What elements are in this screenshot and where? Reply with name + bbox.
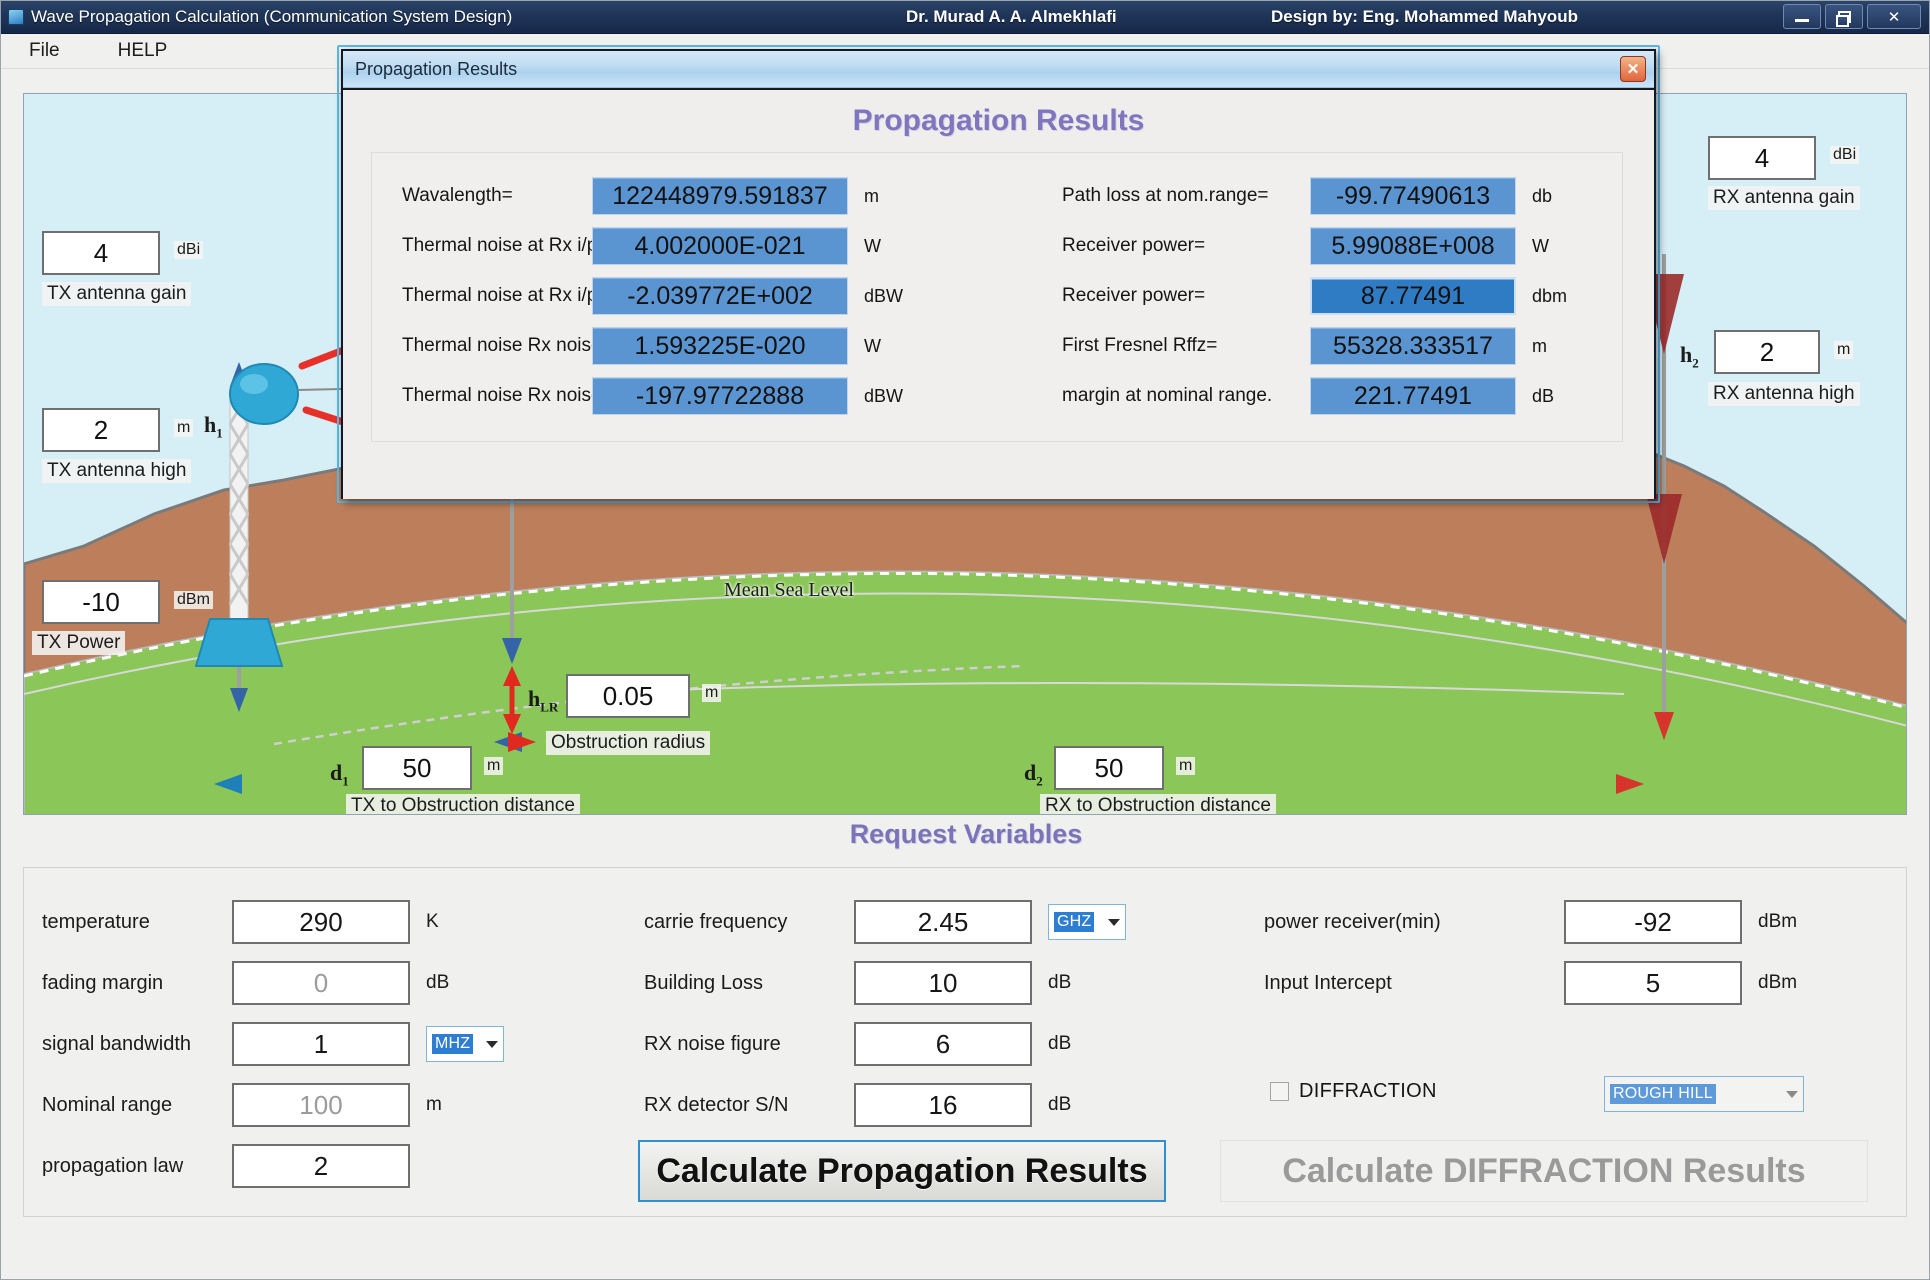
obstruction-radius-input[interactable]: 0.05 [566, 674, 690, 718]
temperature-label: temperature [42, 911, 232, 934]
tx-antenna-gain-input[interactable]: 4 [42, 231, 160, 275]
dialog-heading: Propagation Results [343, 104, 1654, 138]
window-designer-label: Design by: Eng. Mohammed Mahyoub [1271, 7, 1578, 27]
fading-margin-label: fading margin [42, 972, 232, 995]
result-row-margin: margin at nominal range. 221.77491 dB [1062, 377, 1554, 415]
input-intercept-unit: dBm [1758, 972, 1797, 994]
result-row-path-loss: Path loss at nom.range= -99.77490613 db [1062, 177, 1552, 215]
thermal-noise-ip-w-value[interactable]: 4.002000E-021 [592, 227, 848, 265]
app-icon [8, 9, 24, 25]
row-fading-margin: fading margin 0 dB [42, 961, 522, 1005]
result-row-thermal-noise-w: Thermal noise at Rx i/p= 4.002000E-021 W [402, 227, 881, 265]
row-rx-noise-figure: RX noise figure 6 dB [644, 1022, 1204, 1066]
obstruction-radius-label: Obstruction radius [546, 731, 710, 755]
rx-noise-dbw-value[interactable]: -197.97722888 [592, 377, 848, 415]
fading-margin-input[interactable]: 0 [232, 961, 410, 1005]
result-row-thermal-noise-dbw: Thermal noise at Rx i/p= -2.039772E+002 … [402, 277, 903, 315]
chevron-down-icon [1108, 919, 1120, 926]
receiver-power-w-label: Receiver power= [1062, 235, 1310, 257]
tx-to-obstruction-unit: m [484, 757, 503, 775]
result-row-wavelength: Wavalength= 122448979.591837 m [402, 177, 879, 215]
tx-to-obstruction-label: TX to Obstruction distance [346, 794, 580, 815]
rx-to-obstruction-symbol: d2 [1024, 760, 1043, 789]
result-row-receiver-power-dbm: Receiver power= 87.77491 dbm [1062, 277, 1567, 315]
receiver-power-w-unit: W [1532, 236, 1549, 257]
power-receiver-min-unit: dBm [1758, 911, 1797, 933]
nominal-range-label: Nominal range [42, 1094, 232, 1117]
diffraction-checkbox-label: DIFFRACTION [1299, 1080, 1437, 1103]
chevron-down-icon [1786, 1091, 1798, 1098]
row-signal-bandwidth: signal bandwidth 1 MHZ [42, 1022, 562, 1066]
diffraction-type-select[interactable]: ROUGH HILL [1604, 1076, 1804, 1112]
tx-to-obstruction-input[interactable]: 50 [362, 746, 472, 790]
path-loss-label: Path loss at nom.range= [1062, 185, 1310, 207]
rx-noise-figure-unit: dB [1048, 1033, 1071, 1055]
power-receiver-min-input[interactable]: -92 [1564, 900, 1742, 944]
first-fresnel-value[interactable]: 55328.333517 [1310, 327, 1516, 365]
receiver-power-dbm-unit: dbm [1532, 286, 1567, 307]
signal-bandwidth-unit-value: MHZ [432, 1034, 473, 1054]
thermal-noise-ip-w-label: Thermal noise at Rx i/p= [402, 235, 592, 257]
window-author-label: Dr. Murad A. A. Almekhlafi [906, 7, 1117, 27]
tx-mast [230, 394, 248, 619]
menu-item-help[interactable]: HELP [112, 38, 174, 64]
signal-bandwidth-input[interactable]: 1 [232, 1022, 410, 1066]
rx-antenna-gain-unit: dBi [1830, 146, 1859, 164]
dialog-title: Propagation Results [355, 59, 517, 80]
rx-noise-w-label: Thermal noise Rx noise= [402, 335, 592, 357]
row-rx-detector-sn: RX detector S/N 16 dB [644, 1083, 1204, 1127]
checkbox-icon [1270, 1082, 1289, 1101]
receiver-power-dbm-value[interactable]: 87.77491 [1310, 277, 1516, 315]
tx-to-obstruction-symbol: d1 [330, 760, 349, 789]
rx-noise-w-value[interactable]: 1.593225E-020 [592, 327, 848, 365]
rx-to-obstruction-input[interactable]: 50 [1054, 746, 1164, 790]
rx-height-symbol: h2 [1680, 342, 1699, 371]
wavelength-value[interactable]: 122448979.591837 [592, 177, 848, 215]
temperature-unit: K [426, 911, 439, 933]
rx-antenna-height-label: RX antenna high [1708, 382, 1860, 406]
calculate-propagation-button[interactable]: Calculate Propagation Results [638, 1140, 1166, 1202]
receiver-power-dbm-label: Receiver power= [1062, 285, 1310, 307]
rx-to-obstruction-unit: m [1176, 757, 1195, 775]
signal-bandwidth-unit-select[interactable]: MHZ [426, 1026, 504, 1062]
tx-base [196, 619, 282, 666]
rx-noise-figure-label: RX noise figure [644, 1033, 854, 1056]
thermal-noise-ip-w-unit: W [864, 236, 881, 257]
tx-antenna-gain-label: TX antenna gain [42, 282, 191, 306]
carrier-frequency-unit-value: GHZ [1054, 912, 1094, 932]
row-input-intercept: Input Intercept 5 dBm [1264, 961, 1864, 1005]
propagation-results-dialog: Propagation Results ✕ Propagation Result… [341, 49, 1656, 499]
rx-noise-dbw-unit: dBW [864, 386, 903, 407]
application-window: Wave Propagation Calculation (Communicat… [0, 0, 1930, 1280]
tx-power-input[interactable]: -10 [42, 580, 160, 624]
fading-margin-unit: dB [426, 972, 449, 994]
dialog-body: Propagation Results Wavalength= 12244897… [343, 88, 1654, 499]
rx-detector-sn-input[interactable]: 16 [854, 1083, 1032, 1127]
window-titlebar: Wave Propagation Calculation (Communicat… [1, 1, 1930, 34]
obstruction-radius-unit: m [702, 684, 721, 702]
nominal-range-unit: m [426, 1094, 442, 1116]
input-intercept-input[interactable]: 5 [1564, 961, 1742, 1005]
rx-to-obstruction-label: RX to Obstruction distance [1040, 794, 1276, 815]
row-nominal-range: Nominal range 100 m [42, 1083, 522, 1127]
tx-antenna-head [230, 364, 298, 424]
chevron-down-icon [486, 1041, 498, 1048]
path-loss-unit: db [1532, 186, 1552, 207]
rx-detector-sn-unit: dB [1048, 1094, 1071, 1116]
signal-bandwidth-label: signal bandwidth [42, 1033, 232, 1056]
dialog-close-button[interactable]: ✕ [1620, 56, 1646, 82]
maximize-button[interactable] [1825, 4, 1863, 29]
building-loss-unit: dB [1048, 972, 1071, 994]
rx-noise-dbw-label: Thermal noise Rx noise= [402, 385, 592, 407]
result-row-rx-noise-w: Thermal noise Rx noise= 1.593225E-020 W [402, 327, 881, 365]
nominal-range-input[interactable]: 100 [232, 1083, 410, 1127]
diffraction-type-value: ROUGH HILL [1610, 1084, 1716, 1104]
carrier-frequency-unit-select[interactable]: GHZ [1048, 904, 1126, 940]
row-power-receiver-min: power receiver(min) -92 dBm [1264, 900, 1864, 944]
rx-antenna-height-unit: m [1834, 341, 1853, 359]
window-title: Wave Propagation Calculation (Communicat… [31, 7, 512, 27]
path-loss-value[interactable]: -99.77490613 [1310, 177, 1516, 215]
tx-height-symbol: h1 [204, 412, 223, 441]
rx-antenna-gain-input[interactable]: 4 [1708, 136, 1816, 180]
row-propagation-law: propagation law 2 [42, 1144, 522, 1188]
margin-unit: dB [1532, 386, 1554, 407]
minimize-button[interactable] [1783, 4, 1821, 29]
receiver-power-w-value[interactable]: 5.99088E+008 [1310, 227, 1516, 265]
dialog-titlebar: Propagation Results ✕ [343, 51, 1654, 88]
obstruction-radius-symbol: hLR [528, 686, 558, 715]
propagation-law-label: propagation law [42, 1155, 232, 1178]
propagation-law-input[interactable]: 2 [232, 1144, 410, 1188]
building-loss-label: Building Loss [644, 972, 854, 995]
calculate-diffraction-button[interactable]: Calculate DIFFRACTION Results [1220, 1140, 1868, 1202]
rx-noise-figure-input[interactable]: 6 [854, 1022, 1032, 1066]
thermal-noise-ip-dbw-value[interactable]: -2.039772E+002 [592, 277, 848, 315]
rx-antenna-gain-label: RX antenna gain [1708, 186, 1860, 210]
tx-antenna-height-input[interactable]: 2 [42, 408, 160, 452]
tx-antenna-gain-unit: dBi [174, 241, 203, 259]
diffraction-checkbox-row[interactable]: DIFFRACTION [1270, 1080, 1437, 1103]
carrier-frequency-label: carrie frequency [644, 911, 854, 934]
row-building-loss: Building Loss 10 dB [644, 961, 1204, 1005]
rx-noise-w-unit: W [864, 336, 881, 357]
wavelength-unit: m [864, 186, 879, 207]
result-row-first-fresnel: First Fresnel Rffz= 55328.333517 m [1062, 327, 1547, 365]
building-loss-input[interactable]: 10 [854, 961, 1032, 1005]
power-receiver-min-label: power receiver(min) [1264, 911, 1564, 934]
close-icon: ✕ [1627, 60, 1640, 78]
maximize-icon [1838, 11, 1851, 23]
window-controls: ✕ [1783, 4, 1921, 29]
result-row-rx-noise-dbw: Thermal noise Rx noise= -197.97722888 dB… [402, 377, 903, 415]
temperature-input[interactable]: 290 [232, 900, 410, 944]
row-temperature: temperature 290 K [42, 900, 522, 944]
result-row-receiver-power-w: Receiver power= 5.99088E+008 W [1062, 227, 1549, 265]
margin-label: margin at nominal range. [1062, 385, 1310, 407]
tx-antenna-height-label: TX antenna high [42, 459, 191, 483]
carrier-frequency-input[interactable]: 2.45 [854, 900, 1032, 944]
mean-sea-level-label: Mean Sea Level [724, 579, 854, 602]
row-carrier-frequency: carrie frequency 2.45 GHZ [644, 900, 1204, 944]
menu-item-file[interactable]: File [23, 38, 66, 64]
diffraction-checkbox[interactable]: DIFFRACTION [1270, 1080, 1437, 1103]
wavelength-label: Wavalength= [402, 185, 592, 207]
tx-power-label: TX Power [32, 631, 125, 655]
rx-detector-sn-label: RX detector S/N [644, 1094, 854, 1117]
close-button[interactable]: ✕ [1867, 4, 1921, 29]
diffraction-select-row: ROUGH HILL [1604, 1076, 1804, 1112]
request-variables-title: Request Variables [1, 819, 1930, 850]
first-fresnel-unit: m [1532, 336, 1547, 357]
tx-antenna-height-unit: m [174, 419, 193, 437]
thermal-noise-ip-dbw-label: Thermal noise at Rx i/p= [402, 285, 592, 307]
request-variables-panel: temperature 290 K fading margin 0 dB sig… [23, 867, 1907, 1217]
tx-power-unit: dBm [174, 591, 213, 609]
margin-value[interactable]: 221.77491 [1310, 377, 1516, 415]
minimize-icon [1795, 19, 1809, 22]
close-icon: ✕ [1888, 8, 1901, 26]
input-intercept-label: Input Intercept [1264, 972, 1564, 995]
first-fresnel-label: First Fresnel Rffz= [1062, 335, 1310, 357]
rx-antenna-height-input[interactable]: 2 [1714, 330, 1820, 374]
results-group-box: Wavalength= 122448979.591837 m Thermal n… [371, 152, 1623, 442]
thermal-noise-ip-dbw-unit: dBW [864, 286, 903, 307]
